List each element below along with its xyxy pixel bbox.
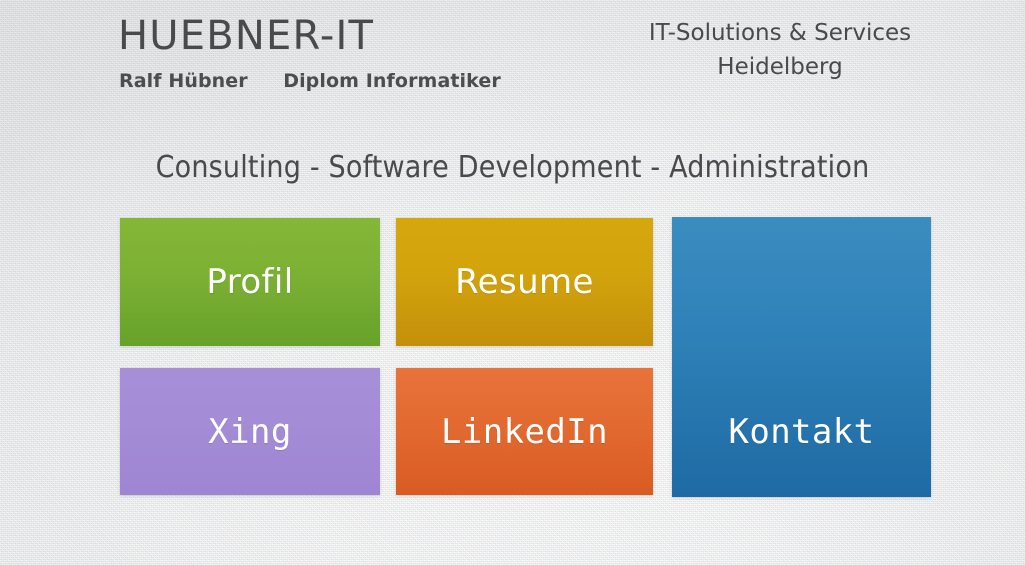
page-root: HUEBNER-IT Ralf Hübner Diplom Informatik… [0,0,1025,565]
brand-person-name: Ralf Hübner [119,70,248,92]
tagline-line-1: IT-Solutions & Services [600,16,960,50]
brand-subtitle: Ralf Hübner Diplom Informatiker [119,70,501,92]
tile-kontakt-label: Kontakt [728,415,874,449]
tile-profil[interactable]: Profil [120,218,380,346]
tile-xing[interactable]: Xing [120,368,380,495]
tile-profil-label: Profil [206,265,293,299]
tile-resume-label: Resume [455,265,594,299]
company-tagline: IT-Solutions & Services Heidelberg [600,16,960,84]
brand-title: HUEBNER-IT [118,13,374,59]
tile-kontakt[interactable]: Kontakt [672,217,931,497]
brand-role: Diplom Informatiker [283,70,501,92]
tile-linkedin[interactable]: LinkedIn [396,368,653,495]
tile-linkedin-label: LinkedIn [441,415,608,449]
services-headline: Consulting - Software Development - Admi… [0,150,1025,185]
page-content: HUEBNER-IT Ralf Hübner Diplom Informatik… [0,0,1025,565]
tile-resume[interactable]: Resume [396,218,653,346]
tagline-line-2: Heidelberg [600,50,960,84]
tile-xing-label: Xing [208,415,291,449]
